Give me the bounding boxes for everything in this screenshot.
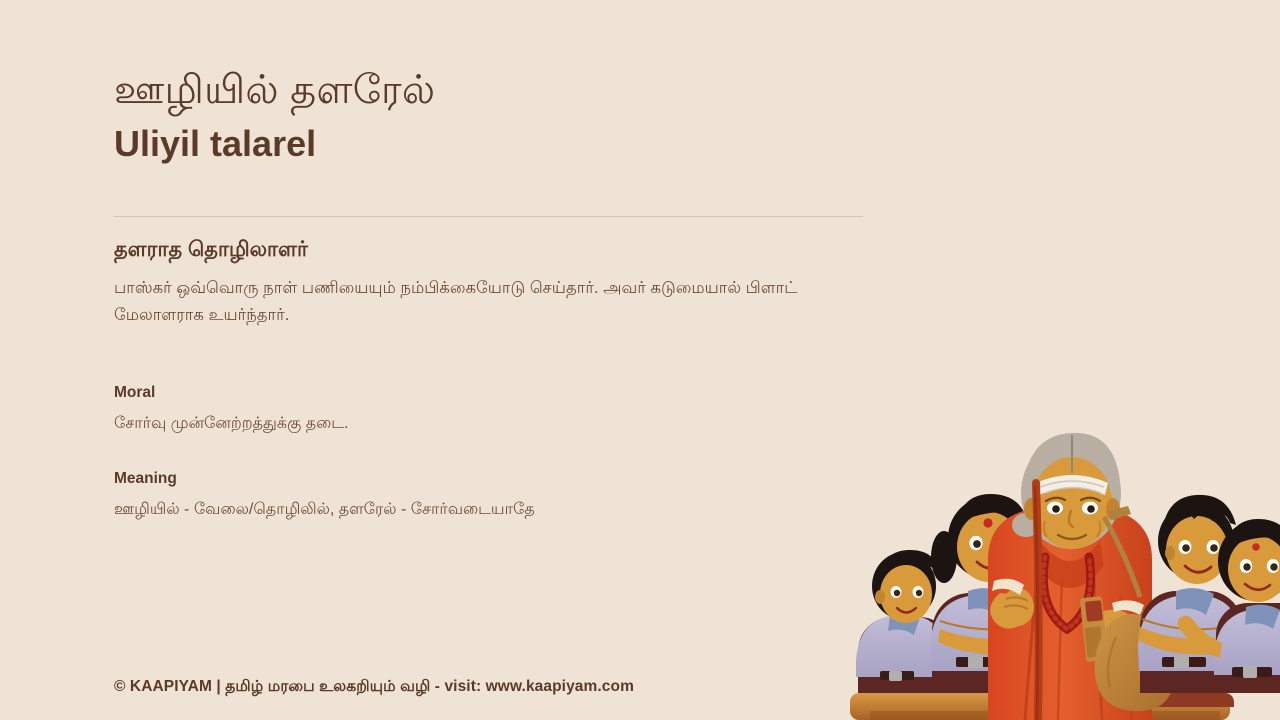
story-section: தளராத தொழிலாளர் பாஸ்கர் ஒவ்வொரு நாள் பணி… xyxy=(114,236,874,329)
content-column: ஊழியில் தளரேல் Uliyil talarel தளராத தொழி… xyxy=(114,66,874,168)
meaning-label: Meaning xyxy=(114,469,874,489)
story-body: பாஸ்கர் ஒவ்வொரு நாள் பணியையும் நம்பிக்கை… xyxy=(114,275,842,328)
child-figure-2 xyxy=(930,494,1045,693)
bench-shape xyxy=(850,693,1234,720)
moral-text: சோர்வு முன்னேற்றத்துக்கு தடை. xyxy=(114,411,874,437)
child-figure-1 xyxy=(856,550,988,693)
palm-leaf-book xyxy=(1080,596,1109,662)
elder-saint-with-children-illustration xyxy=(840,375,1280,720)
header-divider xyxy=(114,216,863,217)
page-title-transliteration: Uliyil talarel xyxy=(114,121,874,168)
moral-label: Moral xyxy=(114,383,874,403)
cloth-bag xyxy=(1095,614,1176,711)
bead-mala xyxy=(1043,557,1090,629)
elder-saint-figure xyxy=(988,433,1175,720)
child-figure-3 xyxy=(1138,495,1245,693)
child-figure-4 xyxy=(1177,519,1280,693)
footer-credit: © KAAPIYAM | தமிழ் மரபை உலகறியும் வழி - … xyxy=(114,678,634,697)
meaning-section: Meaning ஊழியில் - வேலை/தொழிலில், தளரேல் … xyxy=(114,469,874,523)
moral-section: Moral சோர்வு முன்னேற்றத்துக்கு தடை. xyxy=(114,383,874,437)
story-card: ஊழியில் தளரேல் Uliyil talarel தளராத தொழி… xyxy=(0,0,1280,720)
story-heading: தளராத தொழிலாளர் xyxy=(114,236,874,263)
page-title-tamil: ஊழியில் தளரேல் xyxy=(114,66,874,115)
meaning-text: ஊழியில் - வேலை/தொழிலில், தளரேல் - சோர்வட… xyxy=(114,497,874,523)
